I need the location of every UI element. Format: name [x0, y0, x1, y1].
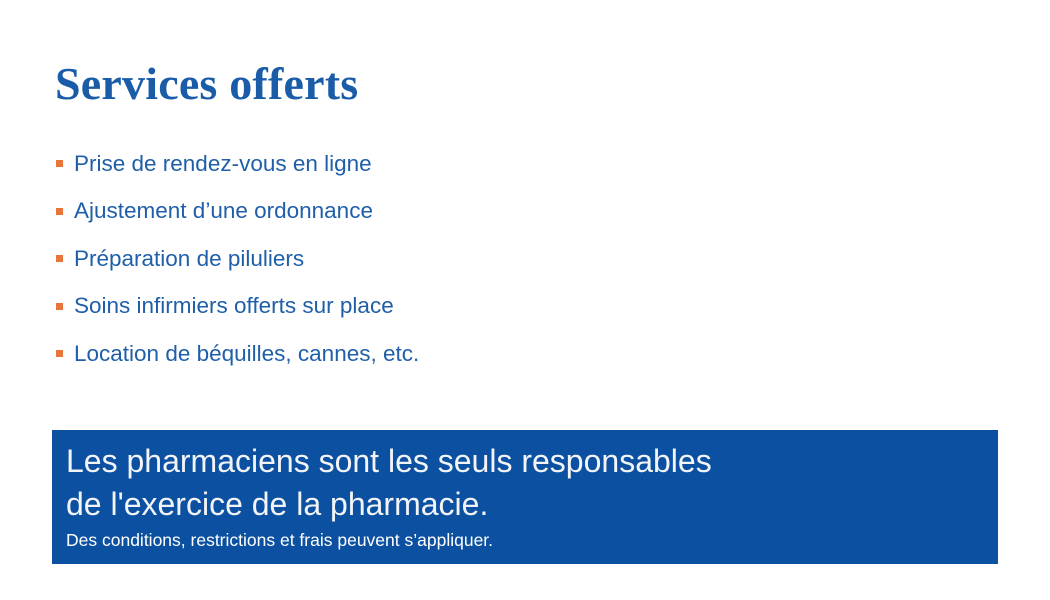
callout-heading: Les pharmaciens sont les seuls responsab…	[66, 440, 998, 526]
list-item-label: Prise de rendez-vous en ligne	[74, 151, 372, 177]
disclaimer-callout: Les pharmaciens sont les seuls responsab…	[52, 430, 998, 564]
list-item: Préparation de piluliers	[55, 235, 675, 283]
list-item: Location de béquilles, cannes, etc.	[55, 330, 675, 378]
square-bullet-icon	[56, 160, 63, 167]
square-bullet-icon	[56, 255, 63, 262]
square-bullet-icon	[56, 303, 63, 310]
list-item-label: Ajustement d’une ordonnance	[74, 198, 373, 224]
callout-subtext: Des conditions, restrictions et frais pe…	[66, 529, 998, 551]
list-item-label: Préparation de piluliers	[74, 246, 304, 272]
list-item-label: Location de béquilles, cannes, etc.	[74, 341, 419, 367]
list-item: Soins infirmiers offerts sur place	[55, 283, 675, 331]
list-item: Prise de rendez-vous en ligne	[55, 140, 675, 188]
list-item-label: Soins infirmiers offerts sur place	[74, 293, 394, 319]
slide-canvas: Services offerts Prise de rendez-vous en…	[0, 0, 1050, 600]
square-bullet-icon	[56, 208, 63, 215]
list-item: Ajustement d’une ordonnance	[55, 188, 675, 236]
page-title: Services offerts	[55, 57, 358, 111]
services-bullet-list: Prise de rendez-vous en ligne Ajustement…	[55, 140, 675, 378]
square-bullet-icon	[56, 350, 63, 357]
